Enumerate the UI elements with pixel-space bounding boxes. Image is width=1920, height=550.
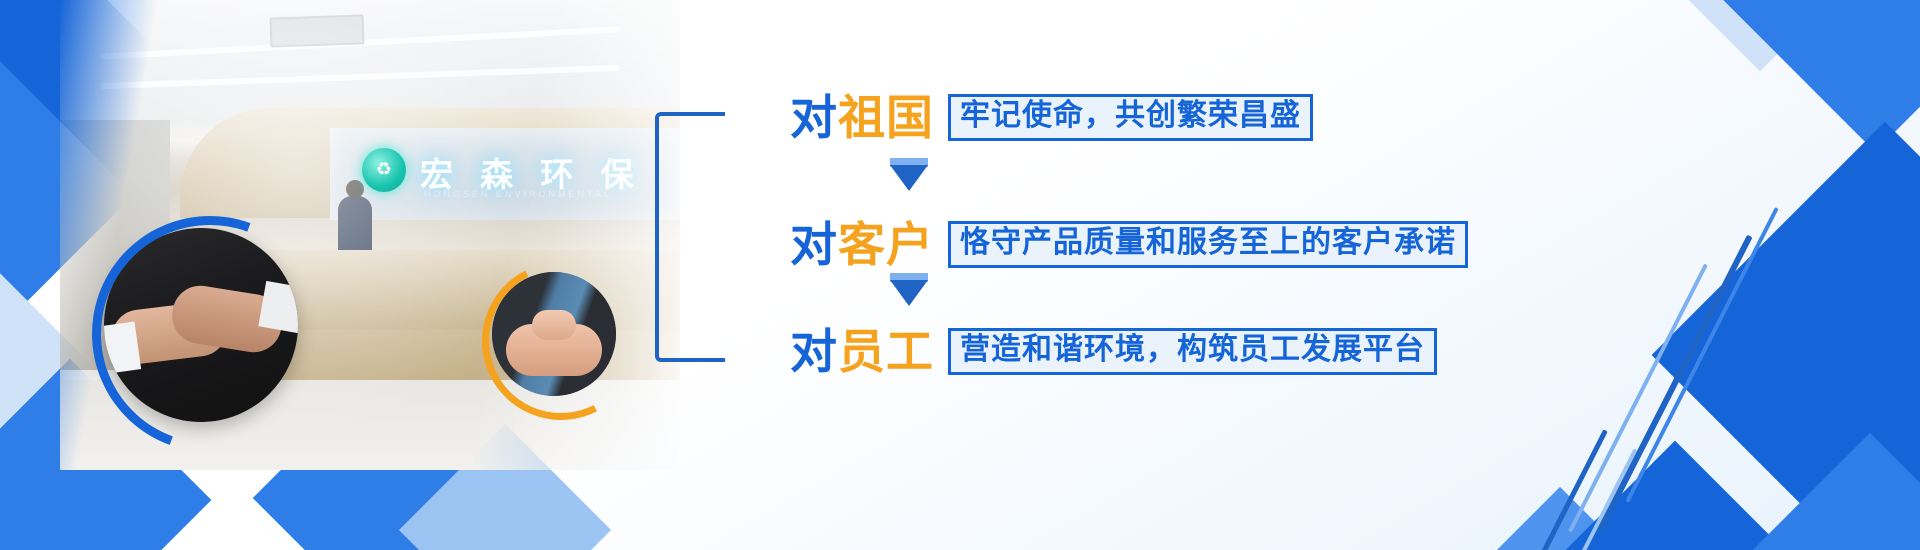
culture-keyword-1: 祖国 [838,91,934,144]
culture-statements: 对祖国 牢记使命，共创繁荣昌盛 对客户 恪守产品质量和服务至上的客户承诺 对员工… [790,0,1610,550]
culture-tag-1: 牢记使命，共创繁荣昌盛 [948,94,1313,141]
culture-heading-2: 对客户 [790,221,934,268]
culture-tag-3: 营造和谐环境，构筑员工发展平台 [948,328,1437,375]
culture-keyword-3: 员工 [838,325,934,378]
down-arrow-icon-1 [890,165,928,191]
culture-row-3: 对员工 营造和谐环境，构筑员工发展平台 [790,322,1437,380]
company-logo-icon: ♻ [362,148,406,192]
culture-tag-2: 恪守产品质量和服务至上的客户承诺 [948,221,1468,268]
company-sign-subtitle: HONGSEN ENVIRONMENTAL [424,189,612,199]
culture-prefix-2: 对 [790,218,838,271]
culture-bracket-icon [655,112,725,362]
culture-heading-3: 对员工 [790,328,934,375]
recycle-icon: ♻ [362,159,406,179]
company-culture-banner: ♻ 宏 森 环 保 HONGSEN ENVIRONMENTAL 对祖国 [0,0,1920,550]
culture-prefix-1: 对 [790,91,838,144]
culture-heading-1: 对祖国 [790,94,934,141]
culture-prefix-3: 对 [790,325,838,378]
culture-row-2: 对客户 恪守产品质量和服务至上的客户承诺 [790,215,1468,273]
down-arrow-icon-2 [890,280,928,306]
culture-keyword-2: 客户 [838,218,934,271]
culture-row-1: 对祖国 牢记使命，共创繁荣昌盛 [790,88,1313,146]
